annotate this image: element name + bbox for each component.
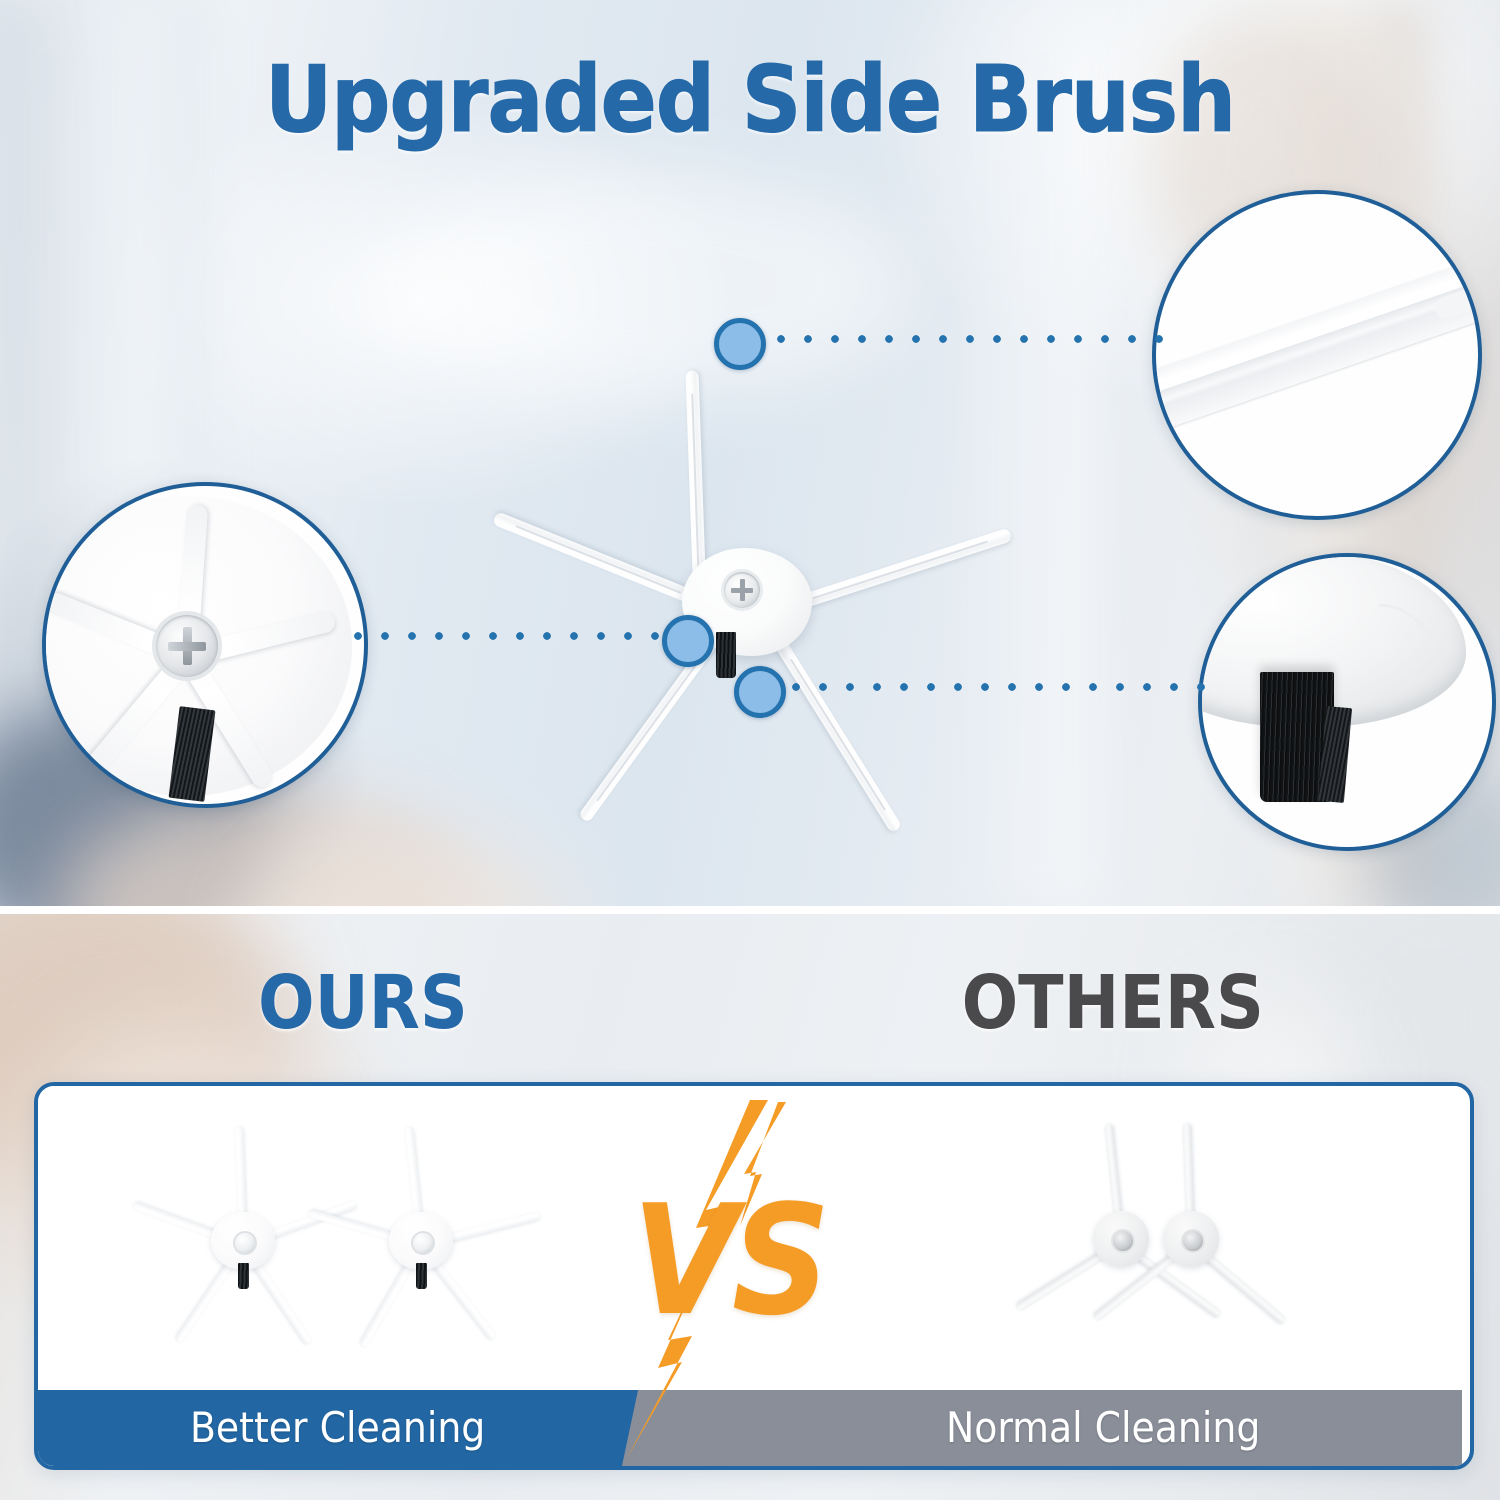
brush-arm (492, 511, 709, 609)
magnifier-arm-closeup (1152, 190, 1482, 520)
magnifier-content (46, 486, 364, 804)
others-brush-2 (1186, 1234, 1196, 1244)
side-brush-hero-image (500, 280, 1020, 880)
callout-node-arm[interactable] (714, 318, 766, 370)
magnifier-hub-closeup (42, 482, 368, 808)
brush-bristle-tuft (416, 1263, 427, 1289)
magnifier-content (1156, 194, 1478, 516)
brush-bristle-tuft (716, 632, 736, 678)
callout-line-arm (748, 333, 1168, 345)
brush-arm (770, 633, 902, 833)
phillips-screw-icon (724, 572, 760, 608)
ours-heading: OURS (258, 960, 468, 1046)
callout-node-bristle[interactable] (734, 666, 786, 718)
brush-bristle-tuft (238, 1263, 249, 1289)
magnifier-bristle-closeup (1198, 553, 1496, 851)
callout-line-bristle (790, 681, 1210, 693)
phillips-screw-icon (156, 615, 218, 677)
others-heading: OTHERS (962, 960, 1264, 1046)
hub-center-ring-icon (1181, 1229, 1205, 1253)
callout-node-hub[interactable] (662, 615, 714, 667)
ours-brush-2 (416, 1236, 426, 1246)
better-cleaning-label: Better Cleaning (190, 1403, 485, 1452)
normal-cleaning-label: Normal Cleaning (946, 1403, 1260, 1452)
magnifier-content (1202, 557, 1492, 847)
phillips-screw-icon (411, 1231, 435, 1255)
vs-badge: VS (632, 1172, 824, 1349)
section-divider (0, 906, 1500, 914)
brush-arm (784, 527, 1013, 613)
phillips-screw-icon (233, 1231, 257, 1255)
product-infographic: Upgraded Side Brush (0, 0, 1500, 1500)
others-brush-1 (1116, 1234, 1126, 1244)
ours-brush-1 (238, 1236, 248, 1246)
callout-line-hub (352, 630, 692, 642)
hub-center-screw-icon (1111, 1229, 1135, 1253)
hero-section: Upgraded Side Brush (0, 0, 1500, 912)
page-title: Upgraded Side Brush (0, 46, 1500, 153)
